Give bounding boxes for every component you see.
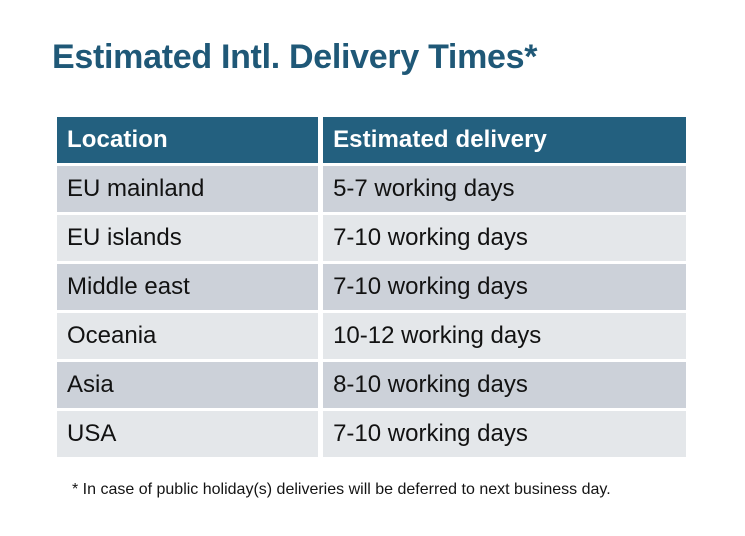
table-header-row: Location Estimated delivery	[57, 117, 686, 163]
cell-delivery: 7-10 working days	[323, 411, 686, 457]
table-row: Asia 8-10 working days	[57, 362, 686, 408]
table-row: EU mainland 5-7 working days	[57, 166, 686, 212]
cell-delivery: 10-12 working days	[323, 313, 686, 359]
delivery-times-panel: Estimated Intl. Delivery Times* Location…	[0, 0, 745, 536]
cell-location: EU islands	[57, 215, 318, 261]
cell-location: Asia	[57, 362, 318, 408]
table-header: Location Estimated delivery	[57, 117, 686, 163]
delivery-times-table: Location Estimated delivery EU mainland …	[52, 114, 691, 460]
table-body: EU mainland 5-7 working days EU islands …	[57, 166, 686, 457]
cell-delivery: 5-7 working days	[323, 166, 686, 212]
cell-delivery: 7-10 working days	[323, 215, 686, 261]
cell-location: Oceania	[57, 313, 318, 359]
table-row: Oceania 10-12 working days	[57, 313, 686, 359]
page-title: Estimated Intl. Delivery Times*	[52, 36, 537, 78]
table-row: EU islands 7-10 working days	[57, 215, 686, 261]
cell-location: USA	[57, 411, 318, 457]
column-header-estimated-delivery: Estimated delivery	[323, 117, 686, 163]
footnote: * In case of public holiday(s) deliverie…	[72, 479, 611, 501]
cell-delivery: 8-10 working days	[323, 362, 686, 408]
table-row: Middle east 7-10 working days	[57, 264, 686, 310]
table-row: USA 7-10 working days	[57, 411, 686, 457]
cell-delivery: 7-10 working days	[323, 264, 686, 310]
cell-location: EU mainland	[57, 166, 318, 212]
cell-location: Middle east	[57, 264, 318, 310]
column-header-location: Location	[57, 117, 318, 163]
